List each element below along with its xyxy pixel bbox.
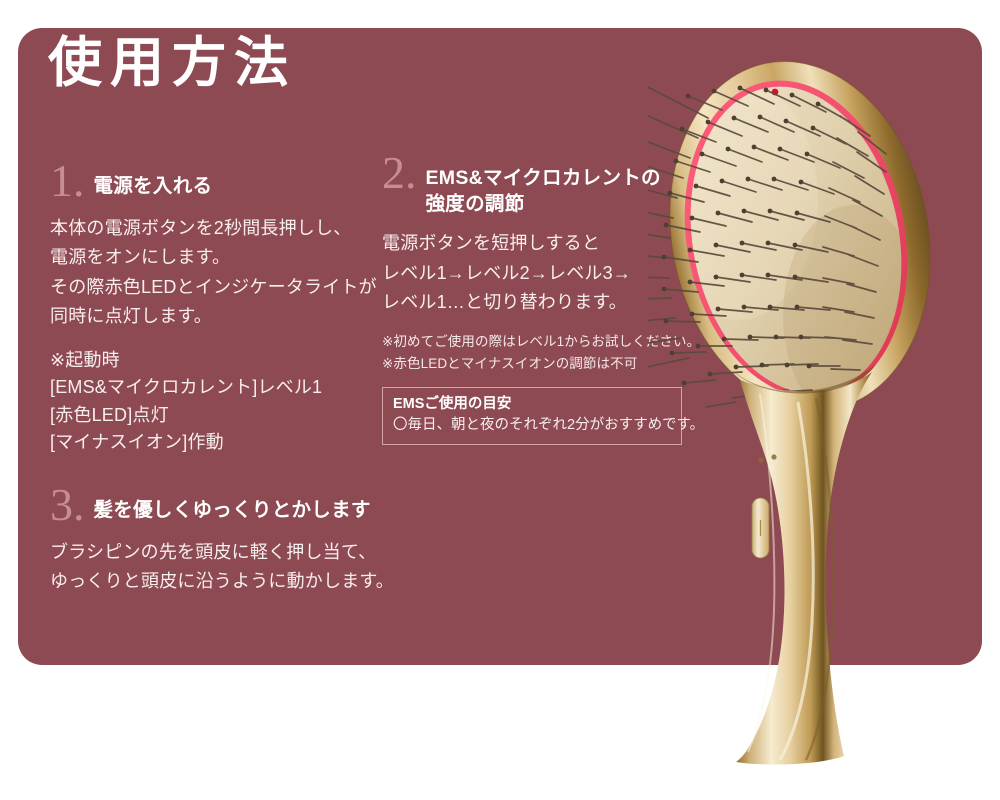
step-1-note-line-4: [マイナスイオン]作動	[50, 429, 380, 456]
step-3-body: ブラシピンの先を頭皮に軽く押し当て、 ゆっくりと頭皮に沿うように動かします。	[50, 538, 430, 596]
step-1-title-line1: 電源を入れる	[94, 175, 213, 197]
step-1-note-line-2: [EMS&マイクロカレント]レベル1	[50, 374, 380, 401]
step-2-number: 2.	[382, 152, 417, 194]
page-title: 使用方法	[48, 34, 296, 93]
step-2-title-line2: 強度の調節	[426, 192, 661, 218]
step-2-title: EMS&マイクロカレントの 強度の調節	[426, 160, 661, 217]
step-2-small-note-2: ※赤色LEDとマイナスイオンの調節は不可	[382, 353, 712, 375]
step-2-body-line-3: レベル1…と切り替わります。	[382, 288, 712, 317]
step-2-body: 電源ボタンを短押しすると レベル1→レベル2→レベル3→ レベル1…と切り替わり…	[382, 229, 712, 316]
step-3: 3. 髪を優しくゆっくりとかします ブラシピンの先を頭皮に軽く押し当て、 ゆっく…	[50, 492, 430, 597]
step-1: 1. 電源を入れる 本体の電源ボタンを2秒間長押しし、 電源をオンにします。 そ…	[50, 168, 380, 456]
step-1-note-line-3: [赤色LED]点灯	[50, 402, 380, 429]
step-3-title-line1: 髪を優しくゆっくりとかします	[94, 499, 371, 521]
step-1-number: 1.	[50, 160, 85, 202]
step-3-heading: 3. 髪を優しくゆっくりとかします	[50, 492, 430, 526]
step-2-body-line-2: レベル1→レベル2→レベル3→	[382, 259, 712, 288]
step-2-small-notes: ※初めてご使用の際はレベル1からお試しください。 ※赤色LEDとマイナスイオンの…	[382, 331, 712, 375]
ems-usage-callout: EMSご使用の目安 〇毎日、朝と夜のそれぞれ2分がおすすめです。	[382, 387, 682, 445]
step-2-body-line-1: 電源ボタンを短押しすると	[382, 229, 712, 258]
step-2-small-note-1: ※初めてご使用の際はレベル1からお試しください。	[382, 331, 712, 353]
step-1-heading: 1. 電源を入れる	[50, 168, 380, 202]
step-1-note-line-1: ※起動時	[50, 347, 380, 374]
callout-text: 〇毎日、朝と夜のそれぞれ2分がおすすめです。	[393, 415, 671, 436]
step-2-heading: 2. EMS&マイクロカレントの 強度の調節	[382, 160, 712, 217]
step-1-body-line-1: 本体の電源ボタンを2秒間長押しし、	[50, 214, 380, 243]
callout-title: EMSご使用の目安	[393, 394, 671, 415]
step-1-body-line-4: 同時に点灯します。	[50, 302, 380, 331]
step-2-title-line1: EMS&マイクロカレントの	[426, 166, 661, 192]
step-1-body: 本体の電源ボタンを2秒間長押しし、 電源をオンにします。 その際赤色LEDとイン…	[50, 214, 380, 331]
step-1-body-line-3: その際赤色LEDとインジケータライトが	[50, 273, 380, 302]
step-3-number: 3.	[50, 484, 85, 526]
step-3-body-line-1: ブラシピンの先を頭皮に軽く押し当て、	[50, 538, 430, 567]
step-1-note: ※起動時 [EMS&マイクロカレント]レベル1 [赤色LED]点灯 [マイナスイ…	[50, 347, 380, 456]
step-3-body-line-2: ゆっくりと頭皮に沿うように動かします。	[50, 567, 430, 596]
step-2: 2. EMS&マイクロカレントの 強度の調節 電源ボタンを短押しすると レベル1…	[382, 160, 712, 445]
step-1-body-line-2: 電源をオンにします。	[50, 243, 380, 272]
step-1-title: 電源を入れる	[94, 168, 213, 200]
step-3-title: 髪を優しくゆっくりとかします	[94, 492, 371, 524]
